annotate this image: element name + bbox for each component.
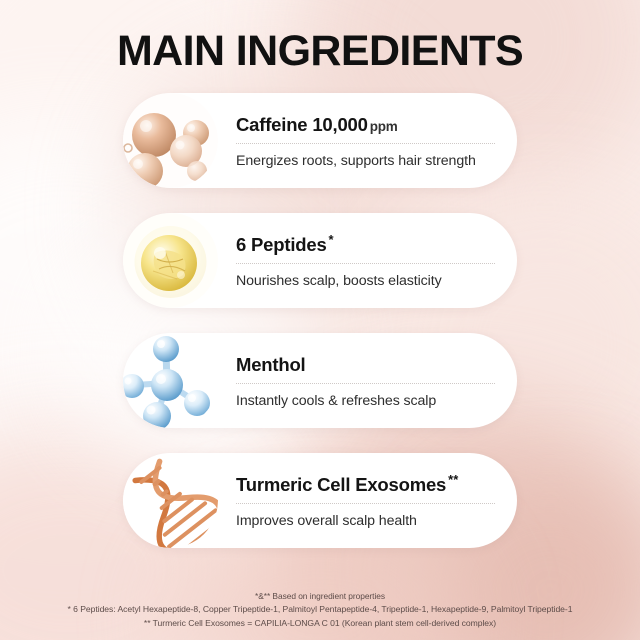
- card-title-marker: **: [448, 472, 458, 487]
- card-body: Turmeric Cell Exosomes** Improves overal…: [218, 472, 517, 529]
- card-title: Caffeine 10,000ppm: [236, 112, 495, 143]
- card-title: 6 Peptides*: [236, 232, 495, 263]
- card-title: Turmeric Cell Exosomes**: [236, 472, 495, 503]
- ingredient-card-peptides[interactable]: 6 Peptides* Nourishes scalp, boosts elas…: [123, 213, 517, 308]
- card-title-text: Turmeric Cell Exosomes: [236, 474, 446, 495]
- page-title: MAIN INGREDIENTS: [0, 0, 640, 76]
- footnote-line-3: ** Turmeric Cell Exosomes = CAPILIA-LONG…: [0, 617, 640, 631]
- menthol-molecule-icon: [123, 333, 218, 428]
- footnotes: *&** Based on ingredient properties * 6 …: [0, 590, 640, 631]
- caffeine-molecule-spheres-icon: [123, 93, 218, 188]
- infographic-page: MAIN INGREDIENTS: [0, 0, 640, 640]
- card-description: Instantly cools & refreshes scalp: [236, 384, 495, 409]
- card-body: Menthol Instantly cools & refreshes scal…: [218, 352, 517, 409]
- card-title-text: 6 Peptides: [236, 234, 327, 255]
- ingredient-card-list: Caffeine 10,000ppm Energizes roots, supp…: [0, 93, 640, 548]
- card-title-unit: ppm: [370, 119, 398, 134]
- footnote-line-1: *&** Based on ingredient properties: [0, 590, 640, 604]
- ingredient-card-menthol[interactable]: Menthol Instantly cools & refreshes scal…: [123, 333, 517, 428]
- ingredient-card-turmeric-exosomes[interactable]: Turmeric Cell Exosomes** Improves overal…: [123, 453, 517, 548]
- card-description: Improves overall scalp health: [236, 504, 495, 529]
- ingredient-card-caffeine[interactable]: Caffeine 10,000ppm Energizes roots, supp…: [123, 93, 517, 188]
- dna-double-helix-icon: [123, 453, 218, 548]
- footnote-line-2: * 6 Peptides: Acetyl Hexapeptide-8, Copp…: [0, 603, 640, 617]
- card-title-text: Caffeine 10,000: [236, 114, 368, 135]
- card-body: 6 Peptides* Nourishes scalp, boosts elas…: [218, 232, 517, 289]
- card-description: Nourishes scalp, boosts elasticity: [236, 264, 495, 289]
- card-title: Menthol: [236, 352, 495, 383]
- card-body: Caffeine 10,000ppm Energizes roots, supp…: [218, 112, 517, 169]
- card-title-text: Menthol: [236, 354, 306, 375]
- card-description: Energizes roots, supports hair strength: [236, 144, 495, 169]
- card-title-marker: *: [329, 232, 334, 247]
- peptide-gold-droplet-icon: [123, 213, 218, 308]
